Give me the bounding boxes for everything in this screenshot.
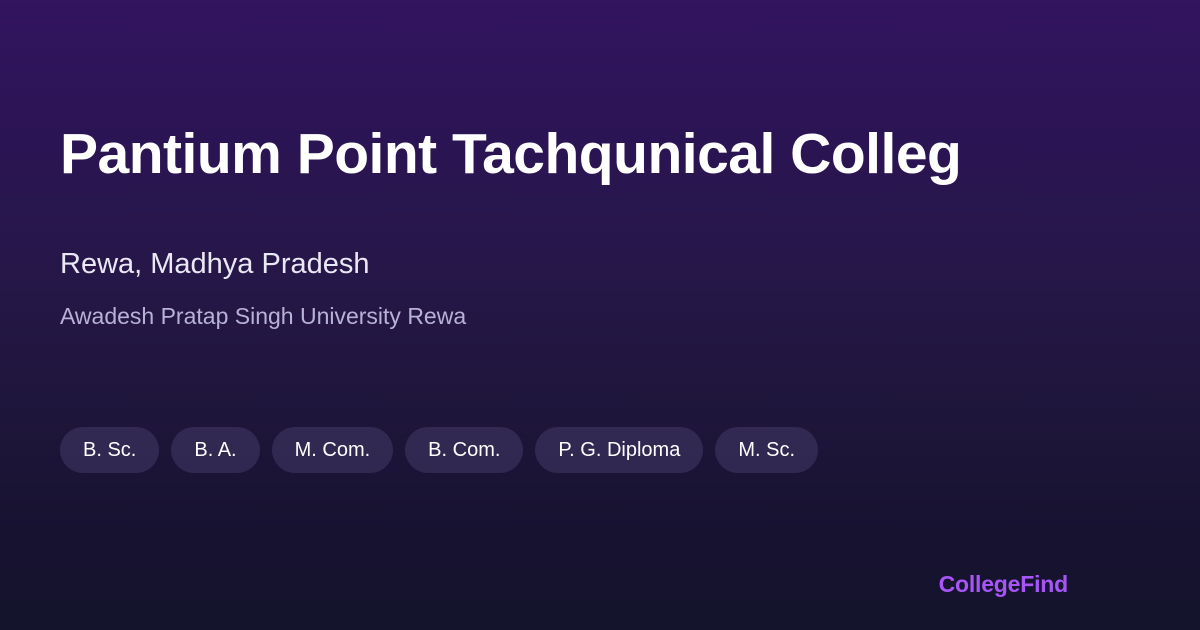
course-chip: B. A. [171,427,259,473]
course-chip: B. Com. [405,427,523,473]
card-footer: CollegeFind [60,573,1140,630]
card-content: Pantium Point Tachqunical Colleg Rewa, M… [60,0,1140,573]
college-location: Rewa, Madhya Pradesh [60,186,1140,282]
course-chip: P. G. Diploma [535,427,703,473]
course-chip: M. Com. [272,427,394,473]
college-affiliation: Awadesh Pratap Singh University Rewa [60,281,1140,331]
course-chip-list: B. Sc. B. A. M. Com. B. Com. P. G. Diplo… [60,331,1140,473]
brand-wordmark: CollegeFind [939,573,1068,596]
course-chip: M. Sc. [715,427,818,473]
college-share-card: Pantium Point Tachqunical Colleg Rewa, M… [0,0,1200,630]
course-chip: B. Sc. [60,427,159,473]
page-title: Pantium Point Tachqunical Colleg [60,0,1100,186]
